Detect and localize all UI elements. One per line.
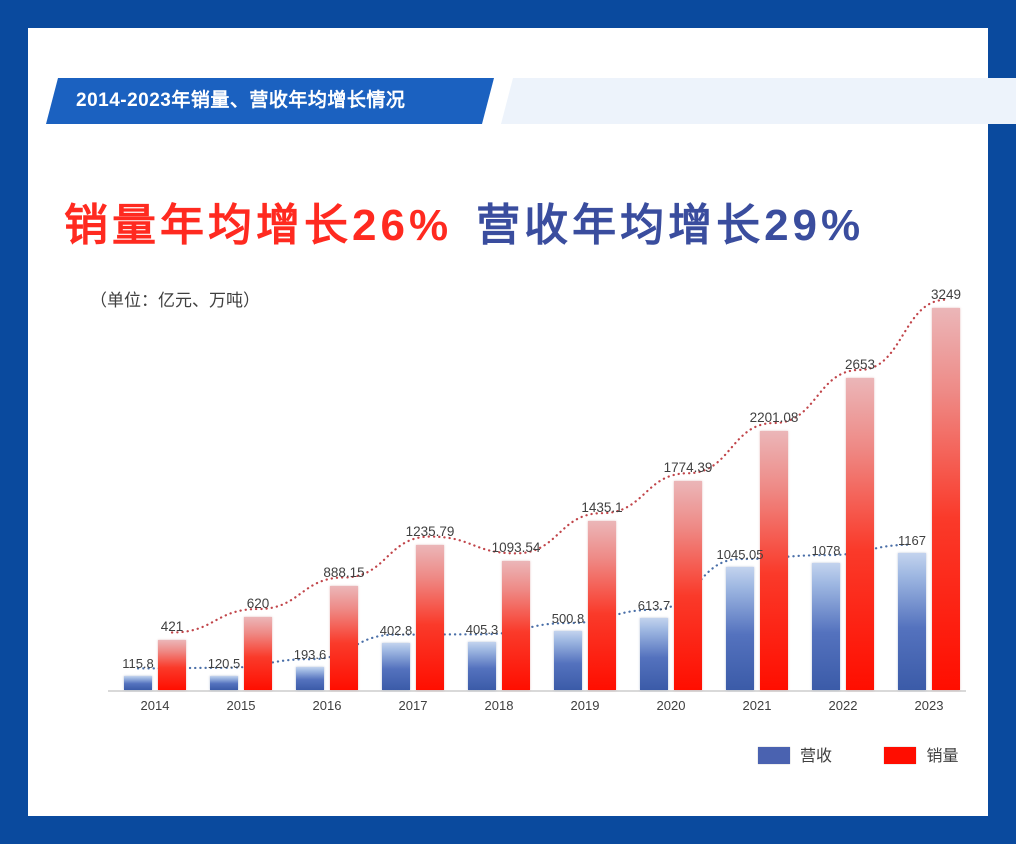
bar-revenue: [554, 631, 582, 690]
bar-sales: [244, 617, 272, 690]
x-axis-line: [108, 690, 966, 692]
bar-revenue: [468, 642, 496, 690]
page-border: 2014-2023年销量、营收年均增长情况 销量年均增长26%营收年均增长29%…: [0, 0, 1016, 844]
x-axis-tick: 2022: [829, 698, 858, 713]
x-axis-tick: 2015: [227, 698, 256, 713]
data-label-sales: 888.15: [323, 565, 364, 580]
bar-group: [210, 290, 272, 690]
bar-revenue: [382, 643, 410, 690]
bar-sales: [588, 521, 616, 690]
banner-accent-shape: [501, 78, 1016, 124]
x-axis-tick: 2019: [571, 698, 600, 713]
x-axis-tick: 2014: [141, 698, 170, 713]
x-axis-tick: 2016: [313, 698, 342, 713]
bar-revenue: [210, 676, 238, 690]
bar-sales: [158, 640, 186, 690]
slide-canvas: 2014-2023年销量、营收年均增长情况 销量年均增长26%营收年均增长29%…: [28, 28, 988, 816]
bar-sales: [932, 308, 960, 690]
data-label-sales: 1435.1: [581, 500, 622, 515]
data-label-sales: 421: [161, 619, 184, 634]
bar-revenue: [726, 567, 754, 690]
bar-chart: 115.84212014120.56202015193.6888.1520164…: [108, 264, 968, 694]
bar-revenue: [812, 563, 840, 690]
bar-sales: [330, 586, 358, 690]
x-axis-tick: 2023: [915, 698, 944, 713]
bar-group: [640, 290, 702, 690]
plot-area: 115.84212014120.56202015193.6888.1520164…: [108, 264, 968, 692]
data-label-revenue: 115.8: [122, 656, 154, 671]
x-axis-tick: 2017: [399, 698, 428, 713]
bar-group: [554, 290, 616, 690]
data-label-sales: 2201.08: [750, 410, 799, 425]
data-label-sales: 1774.39: [664, 460, 713, 475]
legend-item-sales: 销量: [884, 744, 958, 770]
data-label-revenue: 613.7: [638, 598, 671, 613]
data-label-sales: 3249: [931, 287, 961, 302]
data-label-revenue: 1045.05: [717, 547, 764, 562]
data-label-revenue: 1078: [812, 543, 841, 558]
bar-group: [726, 290, 788, 690]
bar-revenue: [124, 676, 152, 690]
data-label-revenue: 193.6: [294, 647, 327, 662]
bar-group: [812, 290, 874, 690]
bar-sales: [416, 545, 444, 690]
banner-title: 2014-2023年销量、营收年均增长情况: [76, 78, 405, 124]
legend-label-revenue: 营收: [800, 748, 832, 765]
legend-swatch-revenue: [758, 747, 790, 764]
data-label-sales: 1093.54: [492, 540, 541, 555]
bar-sales: [674, 481, 702, 690]
bar-revenue: [898, 553, 926, 690]
bar-revenue: [296, 667, 324, 690]
data-label-sales: 620: [247, 596, 270, 611]
data-label-revenue: 405.3: [466, 622, 499, 637]
bar-sales: [502, 561, 530, 690]
headline-sales: 销量年均增长26%: [64, 196, 452, 256]
legend-swatch-sales: [884, 747, 916, 764]
data-label-revenue: 120.5: [208, 656, 241, 671]
bar-revenue: [640, 618, 668, 690]
data-label-revenue: 500.8: [552, 611, 585, 626]
legend-label-sales: 销量: [926, 748, 958, 765]
x-axis-tick: 2018: [485, 698, 514, 713]
legend-item-revenue: 营收: [758, 744, 832, 770]
bar-sales: [846, 378, 874, 690]
x-axis-tick: 2020: [657, 698, 686, 713]
x-axis-tick: 2021: [743, 698, 772, 713]
headline: 销量年均增长26%营收年均增长29%: [64, 196, 954, 256]
data-label-sales: 1235.79: [406, 524, 455, 539]
bar-group: [296, 290, 358, 690]
headline-revenue: 营收年均增长29%: [476, 196, 864, 256]
data-label-revenue: 1167: [898, 533, 926, 548]
bar-sales: [760, 431, 788, 690]
data-label-revenue: 402.8: [380, 623, 413, 638]
data-label-sales: 2653: [845, 357, 875, 372]
chart-legend: 营收 销量: [758, 744, 1006, 770]
bar-group: [898, 290, 960, 690]
